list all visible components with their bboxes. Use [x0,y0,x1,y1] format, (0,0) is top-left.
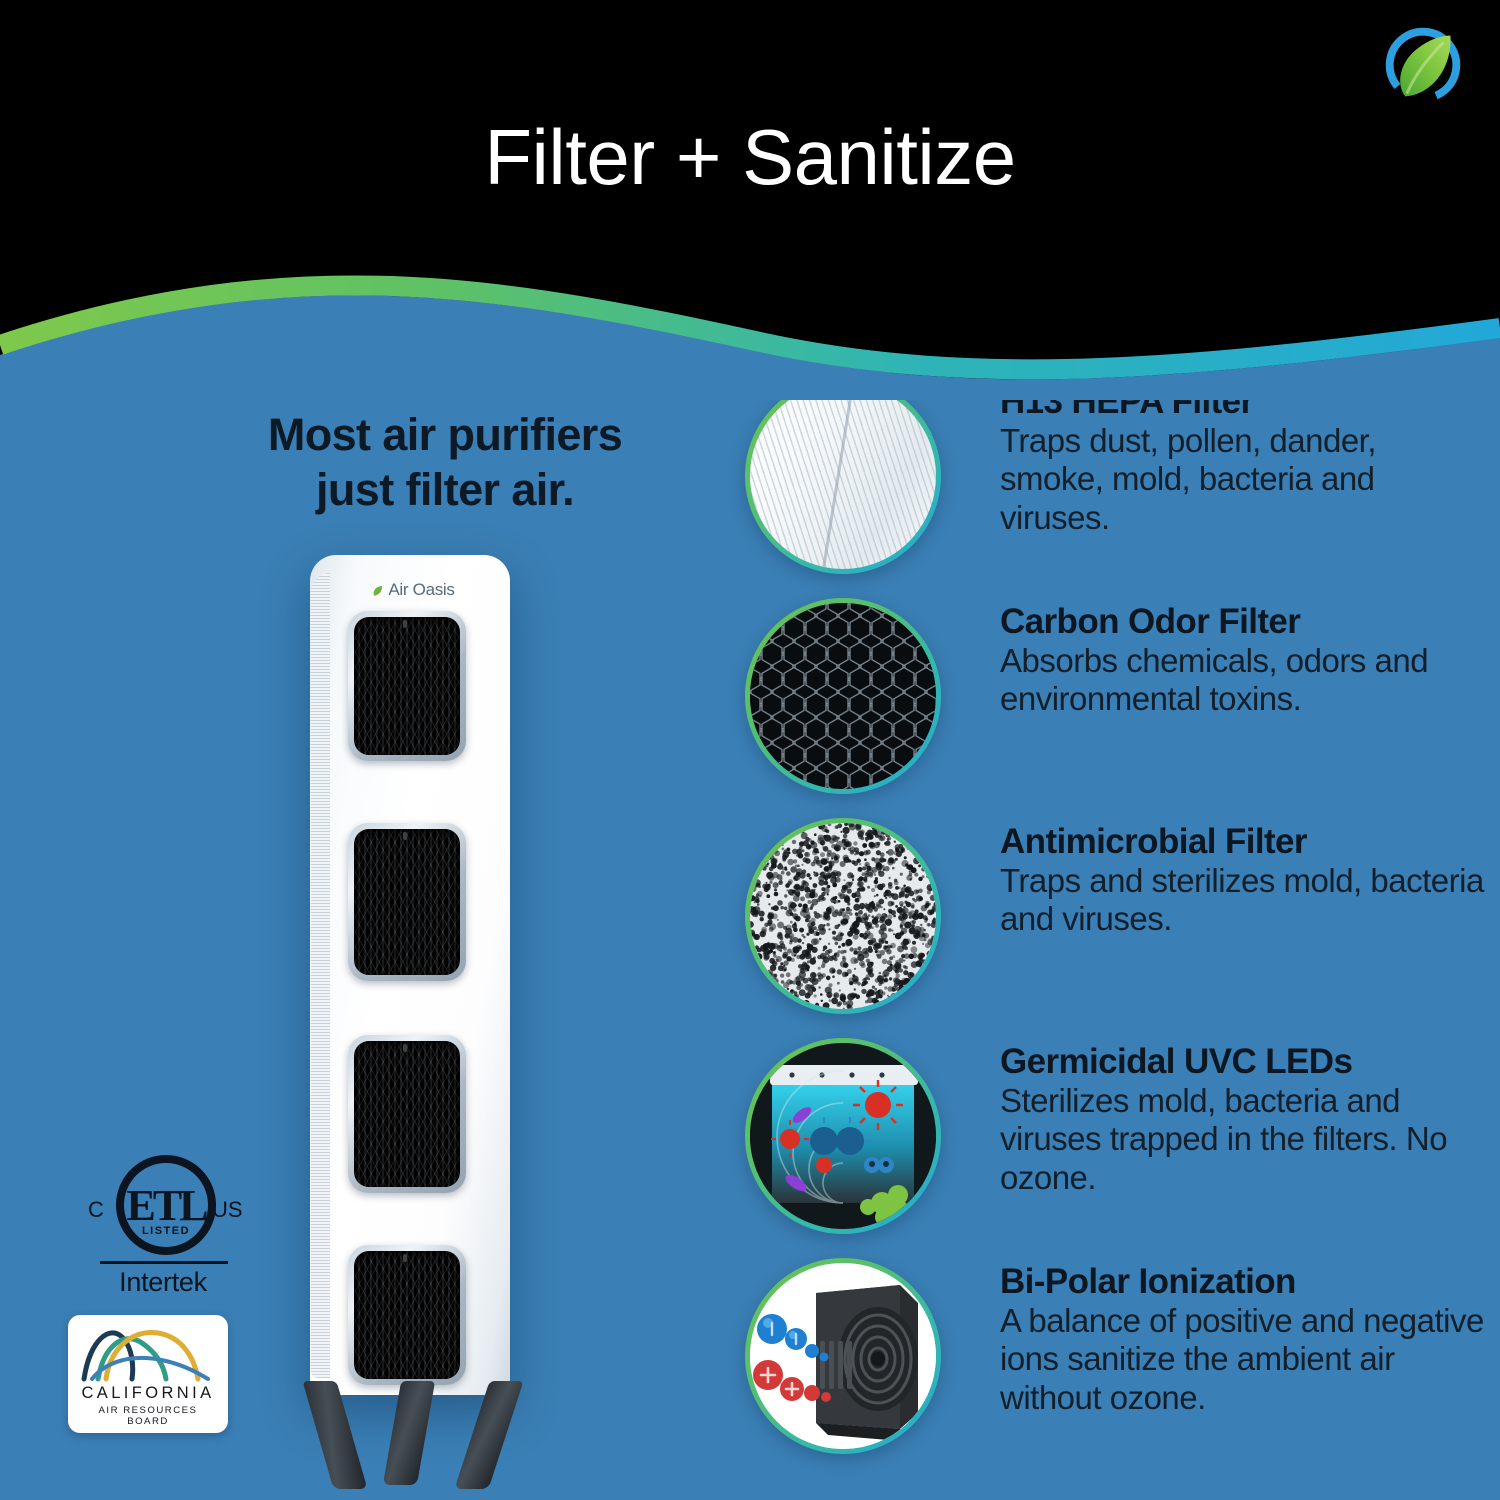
feature-description: Traps and sterilizes mold, bacteria and … [1000,862,1485,939]
device-brand-label: Air Oasis [388,580,454,600]
ionizer-illustration [750,1263,936,1449]
vent-mesh [354,1251,460,1379]
feature-text: Germicidal UVC LEDs Sterilizes mold, bac… [1000,1042,1485,1197]
feature-description: Absorbs chemicals, odors and environment… [1000,642,1485,719]
uvc-led-illustration [750,1043,936,1229]
feature-text: Carbon Odor Filter Absorbs chemicals, od… [1000,602,1485,719]
device-leg [454,1381,523,1489]
carbon-honeycomb-texture [750,603,936,789]
feature-row: H13 HEPA Filter Traps dust, pollen, dand… [745,378,1485,598]
carbon-filter-thumbnail [745,598,941,794]
ionizer-scene [750,1263,936,1449]
carb-certification-badge: CALIFORNIA AIR RESOURCES BOARD [68,1315,228,1433]
device-vent-panel [348,823,466,981]
etl-company-name: Intertek [78,1267,248,1298]
device-side-vent-texture [311,573,330,1378]
feature-row: Carbon Odor Filter Absorbs chemicals, od… [745,598,1485,818]
feature-description: A balance of positive and negative ions … [1000,1302,1485,1417]
uvc-scene [750,1043,936,1229]
device-leg [303,1381,368,1489]
etl-mark-text: ETL [116,1155,216,1255]
antimicrobial-filter-thumbnail [745,818,941,1014]
header-band: Filter + Sanitize [0,0,1500,400]
etl-us-letter: US [212,1197,243,1223]
hepa-filter-thumbnail [745,378,941,574]
device-vent-panel [348,1245,466,1385]
antimicrobial-speckle-texture [750,823,936,1009]
feature-title: Germicidal UVC LEDs [1000,1042,1485,1081]
etl-canada-letter: C [88,1197,104,1223]
uvc-led-thumbnail [745,1038,941,1234]
feature-row: Antimicrobial Filter Traps and sterilize… [745,818,1485,1038]
left-heading-line1: Most air purifiers [268,409,622,460]
feature-row: Germicidal UVC LEDs Sterilizes mold, bac… [745,1038,1485,1258]
etl-divider [100,1261,228,1264]
honeycomb-pattern [750,603,936,789]
vent-mesh [354,617,460,755]
feature-description: Traps dust, pollen, dander, smoke, mold,… [1000,422,1485,537]
feature-text: Antimicrobial Filter Traps and sterilize… [1000,822,1485,939]
feature-row: Bi-Polar Ionization A balance of positiv… [745,1258,1485,1478]
etl-listed-text: LISTED [116,1225,216,1237]
leaf-icon [371,584,384,597]
content-area: Most air purifiers just filter air. Air … [0,330,1500,1500]
feature-text: H13 HEPA Filter Traps dust, pollen, dand… [1000,382,1485,537]
carb-subtitle: AIR RESOURCES BOARD [76,1405,220,1427]
feature-list: H13 HEPA Filter Traps dust, pollen, dand… [745,378,1485,1478]
device-vent-panel [348,1035,466,1193]
left-heading-line2: just filter air. [316,464,574,515]
page-title: Filter + Sanitize [0,112,1500,203]
feature-title: Antimicrobial Filter [1000,822,1485,861]
device-vent-panel [348,611,466,761]
feature-text: Bi-Polar Ionization A balance of positiv… [1000,1262,1485,1417]
carb-title: CALIFORNIA [76,1384,220,1403]
hepa-texture [750,383,936,569]
vent-mesh [354,829,460,975]
feature-title: Carbon Odor Filter [1000,602,1485,641]
device-leg [383,1381,435,1485]
speckle-pattern [750,823,936,1009]
feature-description: Sterilizes mold, bacteria and viruses tr… [1000,1082,1485,1197]
etl-certification-badge: ETL LISTED C US Intertek [78,1155,248,1315]
bipolar-ionization-thumbnail [745,1258,941,1454]
vent-mesh [354,1041,460,1187]
leaf-circle-logo-icon [1374,16,1472,114]
feature-title: Bi-Polar Ionization [1000,1262,1485,1301]
device-brand-logo: Air Oasis [348,577,478,603]
left-heading: Most air purifiers just filter air. [210,408,680,518]
carb-arcs-icon [76,1321,222,1383]
air-purifier-device-image: Air Oasis [296,555,526,1495]
